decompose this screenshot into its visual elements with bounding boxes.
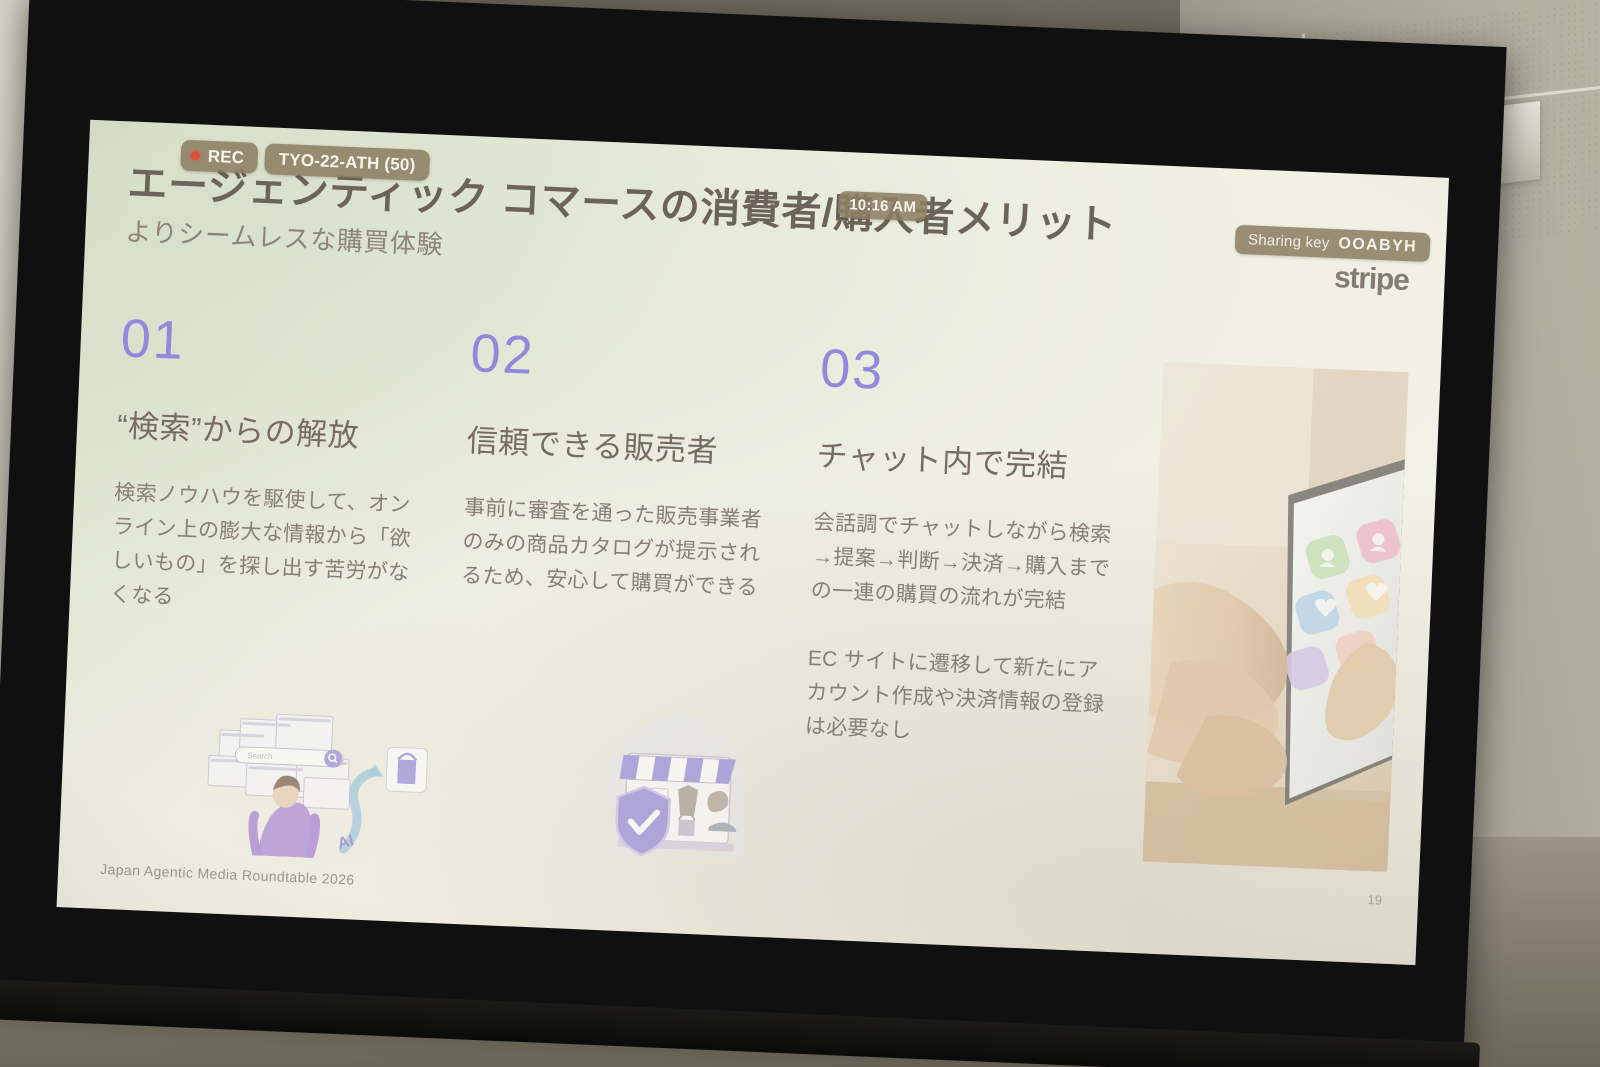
column-body: 会話調でチャットしながら検索→提案→判断→決済→購入までの一連の購買の流れが完結 xyxy=(810,506,1116,621)
benefit-columns: 01 “検索”からの解放 検索ノウハウを駆使して、オンライン上の膨大な情報から「… xyxy=(105,311,1171,758)
slide-header: エージェンティック コマースの消費者/購入者メリット よりシームレスな購買体験 xyxy=(125,161,1118,290)
slide-canvas: REC TYO-22-ATH (50) 10:16 AM Sharing key… xyxy=(57,120,1449,965)
meeting-room-photo: REC TYO-22-ATH (50) 10:16 AM Sharing key… xyxy=(0,0,1600,1067)
timestamp-badge: 10:16 AM xyxy=(838,191,928,222)
column-title: “検索”からの解放 xyxy=(116,407,419,459)
column-body: 検索ノウハウを駆使して、オンライン上の膨大な情報から「欲しいもの」を探し出す苦労… xyxy=(109,476,417,625)
benefit-column-03: 03 チャット内で完結 会話調でチャットしながら検索→提案→判断→決済→購入まで… xyxy=(804,341,1171,758)
sharing-key-badge: Sharing key OOABYH xyxy=(1235,225,1431,262)
recording-badge: REC xyxy=(180,140,258,174)
projection-screen: REC TYO-22-ATH (50) 10:16 AM Sharing key… xyxy=(0,0,1507,1056)
column-title: チャット内で完結 xyxy=(816,437,1119,489)
column-body: 事前に審査を通った販売事業者のみの商品カタログが提示されるため、安心して購買がで… xyxy=(460,491,766,606)
column-body-secondary: EC サイトに遷移して新たにアカウント作成や決済情報の登録は必要なし xyxy=(804,642,1110,757)
benefit-column-02: 02 信頼できる販売者 事前に審査を通った販売事業者のみの商品カタログが提示され… xyxy=(455,326,822,743)
record-dot-icon xyxy=(191,151,200,160)
smartphone-photo xyxy=(1143,362,1409,872)
stripe-logo: stripe xyxy=(1333,261,1409,298)
column-number: 01 xyxy=(120,311,424,378)
search-overload-illustration: Search AI xyxy=(197,703,433,863)
slide-page-number: 19 xyxy=(1367,892,1382,908)
column-title: 信頼できる販売者 xyxy=(466,422,769,474)
column-number: 02 xyxy=(469,326,773,393)
slide-footer: Japan Agentic Media Roundtable 2026 xyxy=(100,861,355,888)
recording-label: REC xyxy=(207,146,244,168)
svg-text:Search: Search xyxy=(247,751,273,761)
sharing-key-label: Sharing key xyxy=(1248,231,1330,251)
column-number: 03 xyxy=(819,341,1123,408)
benefit-column-01: 01 “検索”からの解放 検索ノウハウを駆使して、オンライン上の膨大な情報から「… xyxy=(105,311,472,728)
sharing-key-value: OOABYH xyxy=(1338,235,1417,256)
